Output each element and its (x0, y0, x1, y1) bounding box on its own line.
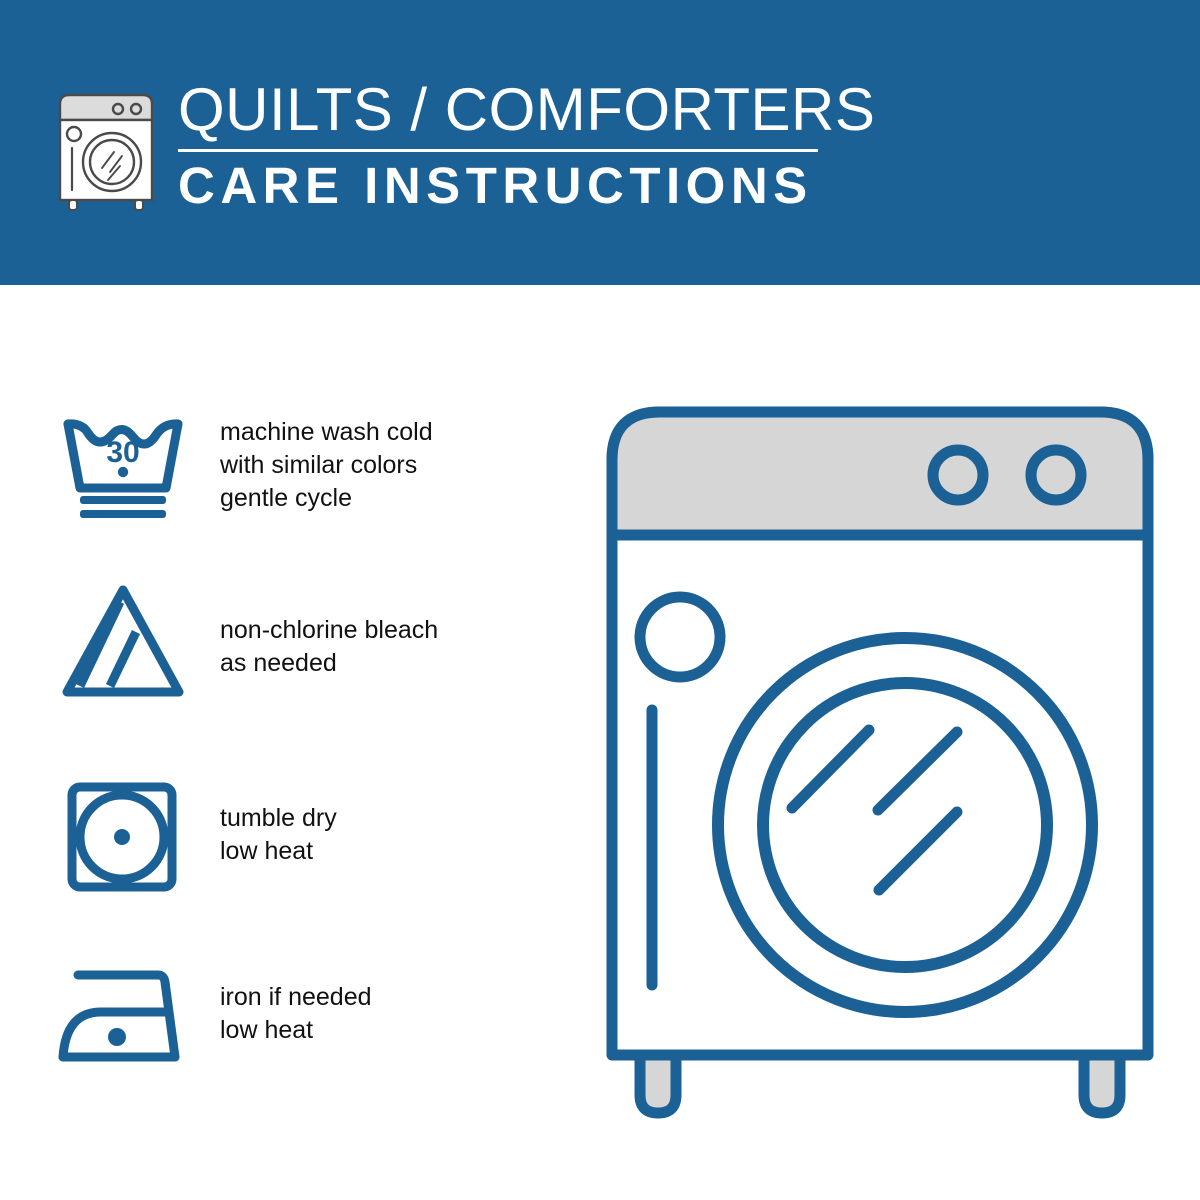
care-item-iron: iron if needed low heat (58, 953, 538, 1071)
washer-leg-left (640, 1055, 676, 1113)
wash-temperature-value: 30 (106, 436, 139, 469)
header-title-block: QUILTS / COMFORTERS CARE INSTRUCTIONS (178, 78, 875, 214)
washer-leg-right (1084, 1055, 1120, 1113)
care-item-text: tumble dry low heat (220, 777, 337, 868)
washing-machine-icon (52, 82, 160, 212)
care-item-text: iron if needed low heat (220, 953, 372, 1047)
tumble-dry-low-heat-icon (58, 777, 188, 895)
non-chlorine-bleach-triangle-icon (58, 582, 188, 700)
header-content: QUILTS / COMFORTERS CARE INSTRUCTIONS (52, 78, 875, 214)
care-line: iron if needed (220, 981, 372, 1014)
care-line: gentle cycle (220, 482, 433, 515)
care-item-tumble-dry: tumble dry low heat (58, 777, 538, 895)
iron-low-heat-icon (58, 953, 188, 1071)
washer-control-panel (612, 412, 1148, 535)
front-load-washing-machine-illustration (600, 400, 1160, 1130)
care-line: tumble dry (220, 802, 337, 835)
care-line: low heat (220, 1014, 372, 1047)
care-line: as needed (220, 647, 438, 680)
care-line: machine wash cold (220, 416, 433, 449)
care-item-bleach: non-chlorine bleach as needed (58, 582, 538, 700)
care-line: with similar colors (220, 449, 433, 482)
care-line: low heat (220, 835, 337, 868)
care-instruction-list: 30 machine wash cold with similar colors… (0, 285, 560, 1200)
care-line: non-chlorine bleach (220, 614, 438, 647)
page-title: QUILTS / COMFORTERS (178, 78, 875, 142)
care-item-text: non-chlorine bleach as needed (220, 582, 438, 680)
page-header: QUILTS / COMFORTERS CARE INSTRUCTIONS (0, 0, 1200, 285)
title-divider (178, 149, 818, 152)
care-item-machine-wash: 30 machine wash cold with similar colors… (58, 410, 538, 528)
wash-tub-30-gentle-icon: 30 (58, 410, 188, 528)
care-item-text: machine wash cold with similar colors ge… (220, 410, 433, 515)
page-subtitle: CARE INSTRUCTIONS (178, 158, 875, 214)
